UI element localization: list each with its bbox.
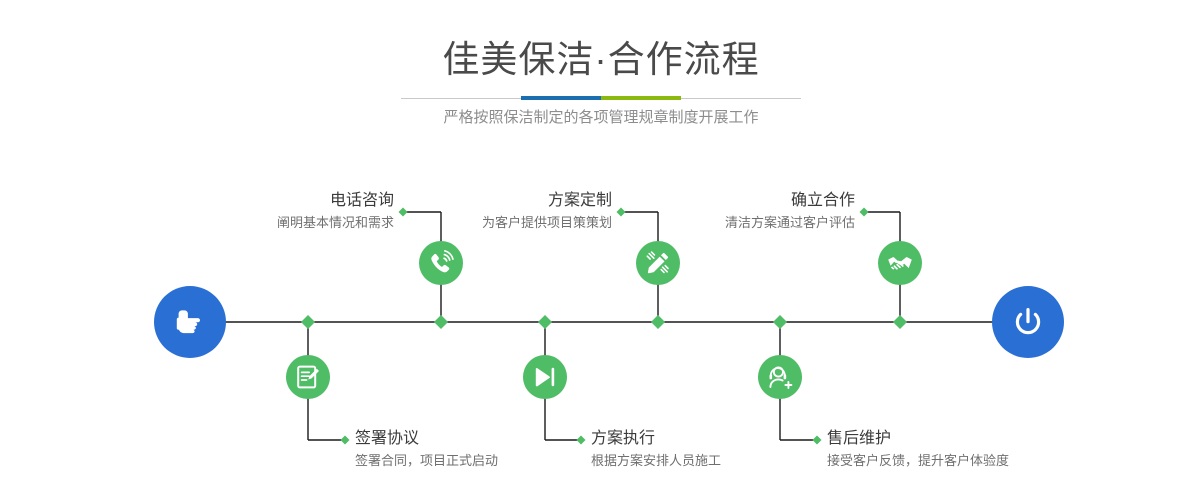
marker-diamond-axis-after-sales-maintenance xyxy=(773,315,787,329)
step-label-phone-consultation: 电话咨询 阐明基本情况和需求 xyxy=(144,190,394,234)
step-desc-phone-consultation: 阐明基本情况和需求 xyxy=(144,212,394,234)
marker-diamond-axis-establish-cooperation xyxy=(893,315,907,329)
play-skip-icon xyxy=(531,363,559,391)
phone-ringing-icon xyxy=(427,249,455,277)
pencil-ruler-icon xyxy=(644,249,672,277)
timeline-end-node[interactable] xyxy=(992,286,1064,358)
marker-diamond-axis-plan-customization xyxy=(651,315,665,329)
power-icon xyxy=(1008,302,1048,342)
process-flow-infographic: 佳美保洁·合作流程 严格按照保洁制定的各项管理规章制度开展工作 xyxy=(0,0,1202,502)
step-title-after-sales-maintenance: 售后维护 xyxy=(827,428,1127,450)
step-title-phone-consultation: 电话咨询 xyxy=(144,190,394,212)
step-desc-after-sales-maintenance: 接受客户反馈，提升客户体验度 xyxy=(827,450,1127,472)
marker-diamond-axis-phone-consultation xyxy=(434,315,448,329)
step-desc-establish-cooperation: 清洁方案通过客户评估 xyxy=(605,212,855,234)
step-node-plan-execution[interactable] xyxy=(523,355,567,399)
step-node-establish-cooperation[interactable] xyxy=(878,241,922,285)
handshake-icon xyxy=(886,249,914,277)
step-node-sign-agreement[interactable] xyxy=(286,355,330,399)
step-label-after-sales-maintenance: 售后维护 接受客户反馈，提升客户体验度 xyxy=(827,428,1127,472)
step-node-phone-consultation[interactable] xyxy=(419,241,463,285)
customer-service-icon xyxy=(766,363,794,391)
step-title-establish-cooperation: 确立合作 xyxy=(605,190,855,212)
marker-diamond-axis-sign-agreement xyxy=(301,315,315,329)
marker-diamond-establish-cooperation-label xyxy=(860,208,869,217)
timeline-start-node[interactable] xyxy=(154,286,226,358)
step-node-after-sales-maintenance[interactable] xyxy=(758,355,802,399)
timeline-connectors xyxy=(0,0,1202,502)
step-desc-plan-customization: 为客户提供项目策策划 xyxy=(362,212,612,234)
step-label-establish-cooperation: 确立合作 清洁方案通过客户评估 xyxy=(605,190,855,234)
pointing-hand-icon xyxy=(170,302,210,342)
step-title-plan-customization: 方案定制 xyxy=(362,190,612,212)
step-node-plan-customization[interactable] xyxy=(636,241,680,285)
document-edit-icon xyxy=(294,363,322,391)
step-label-plan-customization: 方案定制 为客户提供项目策策划 xyxy=(362,190,612,234)
marker-diamond-axis-plan-execution xyxy=(538,315,552,329)
marker-diamond-sign-agreement-label xyxy=(341,436,350,445)
